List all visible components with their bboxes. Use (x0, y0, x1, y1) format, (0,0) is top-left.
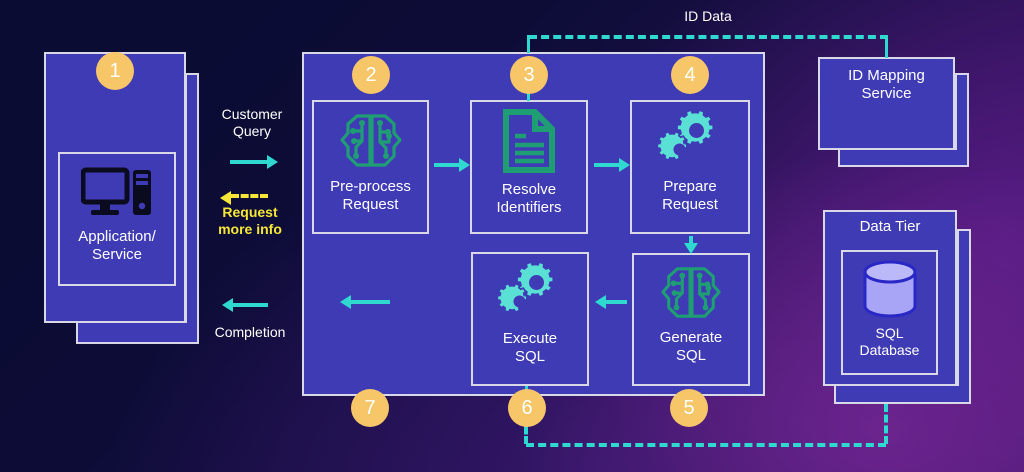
ai-brain-icon (337, 110, 405, 172)
arrow-prepare-to-generate (689, 236, 693, 244)
gears-icon (658, 110, 722, 172)
application-service-inner: Application/ Service (58, 152, 176, 286)
id-data-connector-to-step3 (527, 35, 530, 53)
arrow-resolve-to-prepare (594, 163, 620, 167)
step-badge-5: 5 (670, 389, 708, 427)
step-card-label: Pre-process Request (330, 178, 411, 214)
ai-brain-icon (658, 263, 724, 323)
step-card-label: Prepare Request (662, 178, 718, 214)
desktop-computer-icon (81, 166, 153, 224)
gears-icon (498, 262, 562, 324)
step-card-label: Resolve Identifiers (496, 181, 561, 217)
data-tier-card[interactable]: Data Tier SQL Database (823, 210, 957, 386)
step-badge-3: 3 (510, 56, 548, 94)
id-mapping-service-label: ID Mapping Service (820, 67, 953, 103)
arrow-generate-to-execute (605, 300, 627, 304)
data-tier-label: Data Tier (825, 218, 955, 236)
db-connector-to-data-tier (884, 404, 888, 444)
step-card-label: Execute SQL (503, 330, 557, 366)
step-badge-1: 1 (96, 52, 134, 90)
diagram-canvas: Application/ Service 1 Customer Query Re… (0, 0, 1024, 472)
application-service-card[interactable]: Application/ Service (44, 52, 186, 323)
request-more-info-label: Request more info (204, 204, 296, 238)
customer-query-label: Customer Query (206, 106, 298, 140)
arrow-preprocess-to-resolve (434, 163, 460, 167)
data-tier-card-back (957, 229, 971, 404)
step-card-label: Generate SQL (660, 329, 723, 365)
database-cylinder-icon (859, 259, 921, 321)
request-more-info-arrow (231, 194, 268, 198)
step-badge-6: 6 (508, 389, 546, 427)
step-card-execute-sql[interactable]: Execute SQL (471, 252, 589, 386)
sql-database-label: SQL Database (860, 325, 920, 359)
application-service-label: Application/ Service (78, 228, 156, 264)
document-icon (502, 109, 556, 173)
id-data-connector-to-id-mapping (885, 35, 888, 58)
db-dashed-horizontal (526, 443, 886, 447)
step-card-generate-sql[interactable]: Generate SQL (632, 253, 750, 386)
sql-database-inner: SQL Database (841, 250, 938, 375)
completion-label: Completion (196, 324, 304, 341)
id-data-dashed-horizontal (529, 35, 888, 39)
customer-query-arrow (230, 160, 268, 164)
step-card-prepare-request[interactable]: Prepare Request (630, 100, 750, 234)
step-card-pre-process-request[interactable]: Pre-process Request (312, 100, 429, 234)
arrow-execute-to-completion (350, 300, 390, 304)
step-badge-4: 4 (671, 56, 709, 94)
application-service-card-back-2 (76, 323, 199, 344)
step-badge-2: 2 (352, 56, 390, 94)
step-badge-7: 7 (351, 389, 389, 427)
application-service-card-back (185, 73, 199, 344)
completion-arrow (232, 303, 268, 307)
id-mapping-service-card-back-2 (838, 150, 969, 167)
data-tier-card-back-2 (834, 386, 971, 404)
id-mapping-service-card[interactable]: ID Mapping Service (818, 57, 955, 150)
id-data-label: ID Data (648, 8, 768, 25)
step-card-resolve-identifiers[interactable]: Resolve Identifiers (470, 100, 588, 234)
